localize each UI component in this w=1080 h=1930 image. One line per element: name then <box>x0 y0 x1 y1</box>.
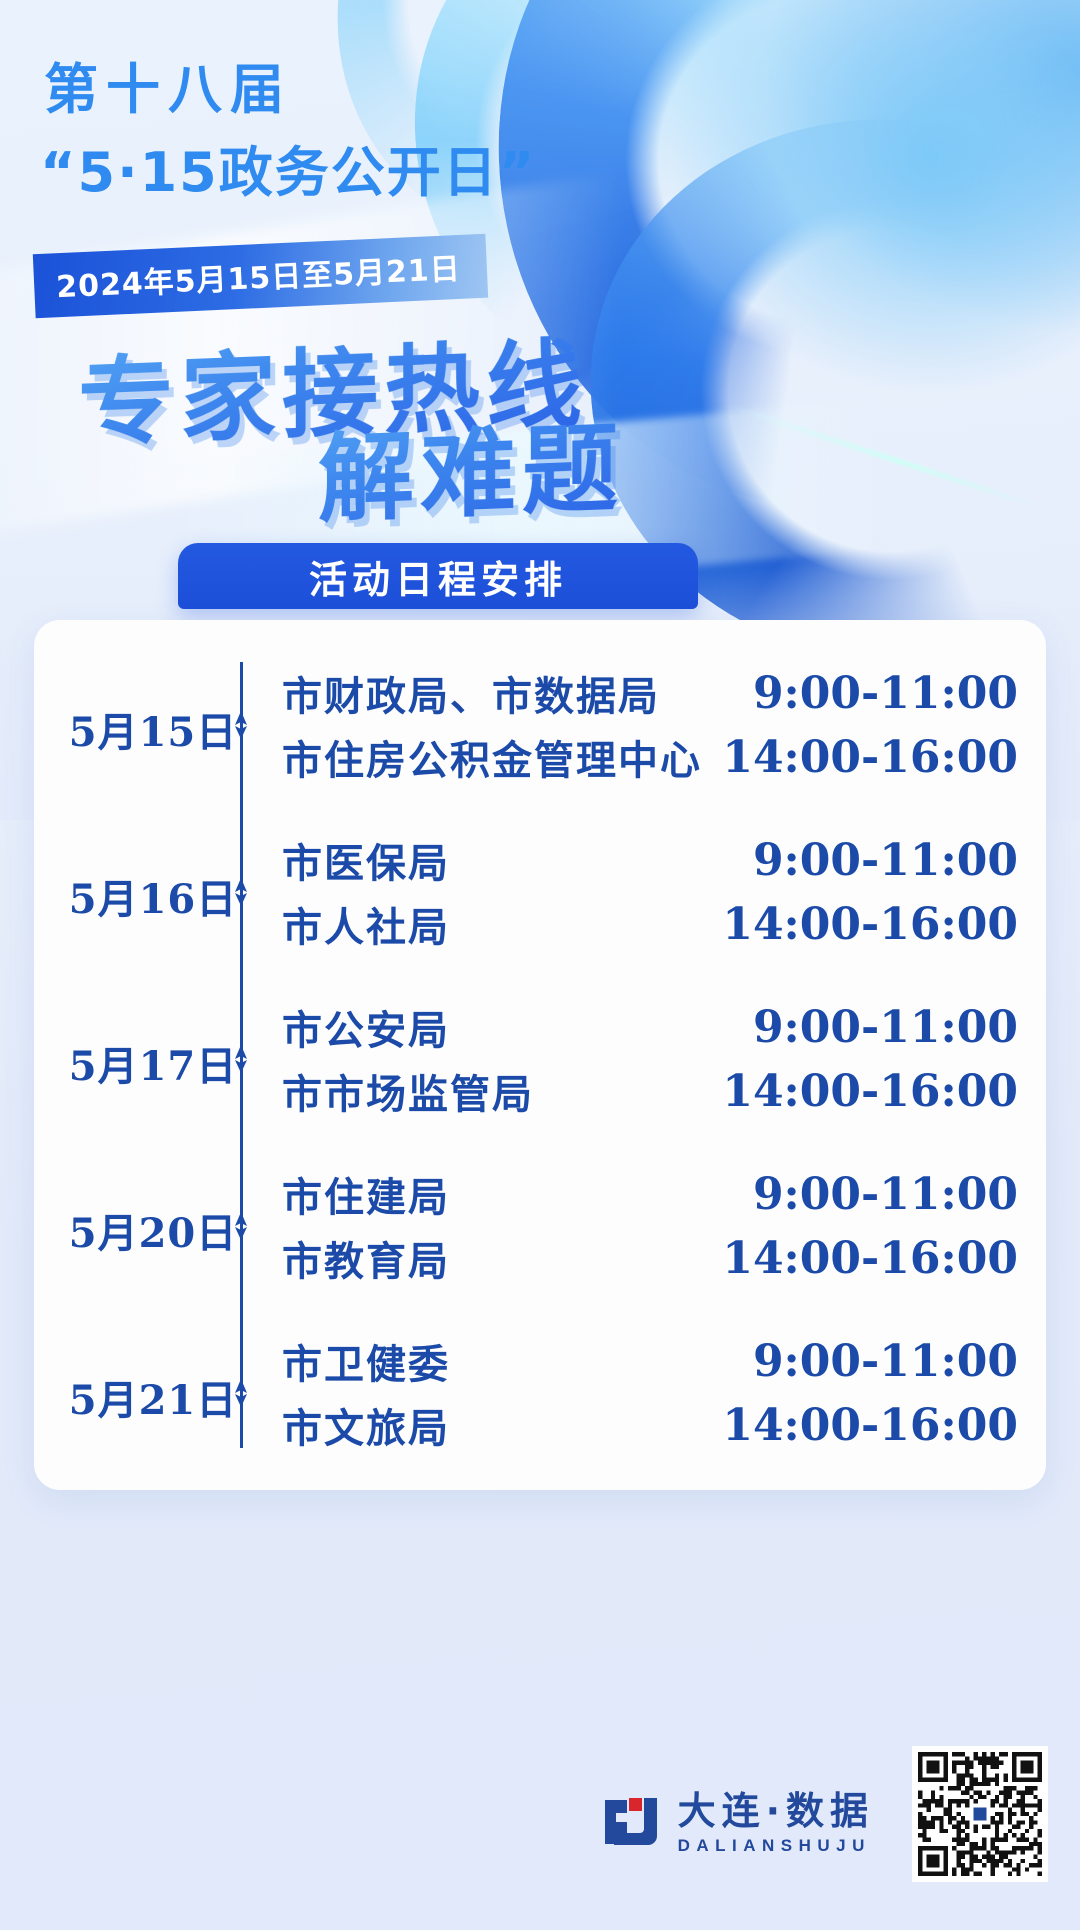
qr-code-icon[interactable] <box>912 1746 1048 1882</box>
brand-name-cn: 大连·数据 <box>678 1792 874 1830</box>
brand-logo: 大连·数据 DALIANSHUJU <box>602 1792 874 1854</box>
table-row: 5月17日市公安局9:00-11:00市市场监管局14:00-16:00 <box>34 984 1046 1134</box>
footer: 大连·数据 DALIANSHUJU <box>0 1630 1080 1930</box>
schedule-rows: 5月15日市财政局、市数据局9:00-11:00市住房公积金管理中心14:00-… <box>34 620 1046 1490</box>
schedule-slot: 市市场监管局14:00-16:00 <box>274 1060 1046 1122</box>
slot-organization: 市市场监管局 <box>282 1062 534 1120</box>
kicker-line-2: “5·15政务公开日” <box>40 128 536 207</box>
row-date: 5月16日 <box>58 867 248 925</box>
slot-time: 9:00-11:00 <box>753 835 1018 886</box>
slot-organization: 市教育局 <box>282 1229 450 1287</box>
timeline-marker-icon <box>230 710 252 740</box>
headline-group: 专家接热线 解难题 <box>0 300 1080 560</box>
table-row: 5月20日市住建局9:00-11:00市教育局14:00-16:00 <box>34 1151 1046 1301</box>
slot-time: 9:00-11:00 <box>753 1169 1018 1220</box>
schedule-slot: 市住建局9:00-11:00 <box>274 1163 1046 1225</box>
slot-organization: 市住建局 <box>282 1165 450 1223</box>
row-date: 5月21日 <box>58 1368 248 1426</box>
brand-name-en: DALIANSHUJU <box>678 1837 874 1854</box>
slot-time: 14:00-16:00 <box>722 732 1018 783</box>
timeline-marker-icon <box>230 1211 252 1241</box>
slot-time: 9:00-11:00 <box>753 668 1018 719</box>
kicker-line-1: 第十八届 <box>44 62 292 119</box>
slot-organization: 市公安局 <box>282 998 450 1056</box>
schedule-slot: 市教育局14:00-16:00 <box>274 1227 1046 1289</box>
schedule-slot: 市卫健委9:00-11:00 <box>274 1330 1046 1392</box>
poster-root: 第十八届 “5·15政务公开日” 2024年5月15日至5月21日 专家接热线 … <box>0 0 1080 1930</box>
slot-organization: 市医保局 <box>282 831 450 889</box>
dalian-shuju-logo-icon <box>602 1794 660 1852</box>
schedule-slot: 市住房公积金管理中心14:00-16:00 <box>274 726 1046 788</box>
slot-time: 14:00-16:00 <box>722 1400 1018 1451</box>
schedule-slot: 市文旅局14:00-16:00 <box>274 1394 1046 1456</box>
slot-time: 14:00-16:00 <box>722 1066 1018 1117</box>
row-date: 5月20日 <box>58 1201 248 1259</box>
row-date: 5月17日 <box>58 1034 248 1092</box>
slot-organization: 市文旅局 <box>282 1396 450 1454</box>
schedule-slot: 市人社局14:00-16:00 <box>274 893 1046 955</box>
slot-time: 9:00-11:00 <box>753 1336 1018 1387</box>
section-title: 活动日程安排 <box>309 549 567 604</box>
table-row: 5月15日市财政局、市数据局9:00-11:00市住房公积金管理中心14:00-… <box>34 650 1046 800</box>
slot-time: 14:00-16:00 <box>722 899 1018 950</box>
slot-time: 9:00-11:00 <box>753 1002 1018 1053</box>
schedule-slot: 市医保局9:00-11:00 <box>274 829 1046 891</box>
schedule-slot: 市财政局、市数据局9:00-11:00 <box>274 662 1046 724</box>
slot-time: 14:00-16:00 <box>722 1233 1018 1284</box>
timeline-marker-icon <box>230 1044 252 1074</box>
timeline-marker-icon <box>230 1378 252 1408</box>
slot-organization: 市人社局 <box>282 895 450 953</box>
table-row: 5月16日市医保局9:00-11:00市人社局14:00-16:00 <box>34 817 1046 967</box>
headline-line-2: 解难题 <box>318 390 624 541</box>
slot-organization: 市卫健委 <box>282 1332 450 1390</box>
timeline-marker-icon <box>230 877 252 907</box>
table-row: 5月21日市卫健委9:00-11:00市文旅局14:00-16:00 <box>34 1318 1046 1468</box>
section-banner: 活动日程安排 <box>178 543 698 609</box>
schedule-slot: 市公安局9:00-11:00 <box>274 996 1046 1058</box>
brand-logo-text: 大连·数据 DALIANSHUJU <box>678 1792 874 1854</box>
slot-organization: 市财政局、市数据局 <box>282 664 660 722</box>
slot-organization: 市住房公积金管理中心 <box>282 728 702 786</box>
row-date: 5月15日 <box>58 700 248 758</box>
